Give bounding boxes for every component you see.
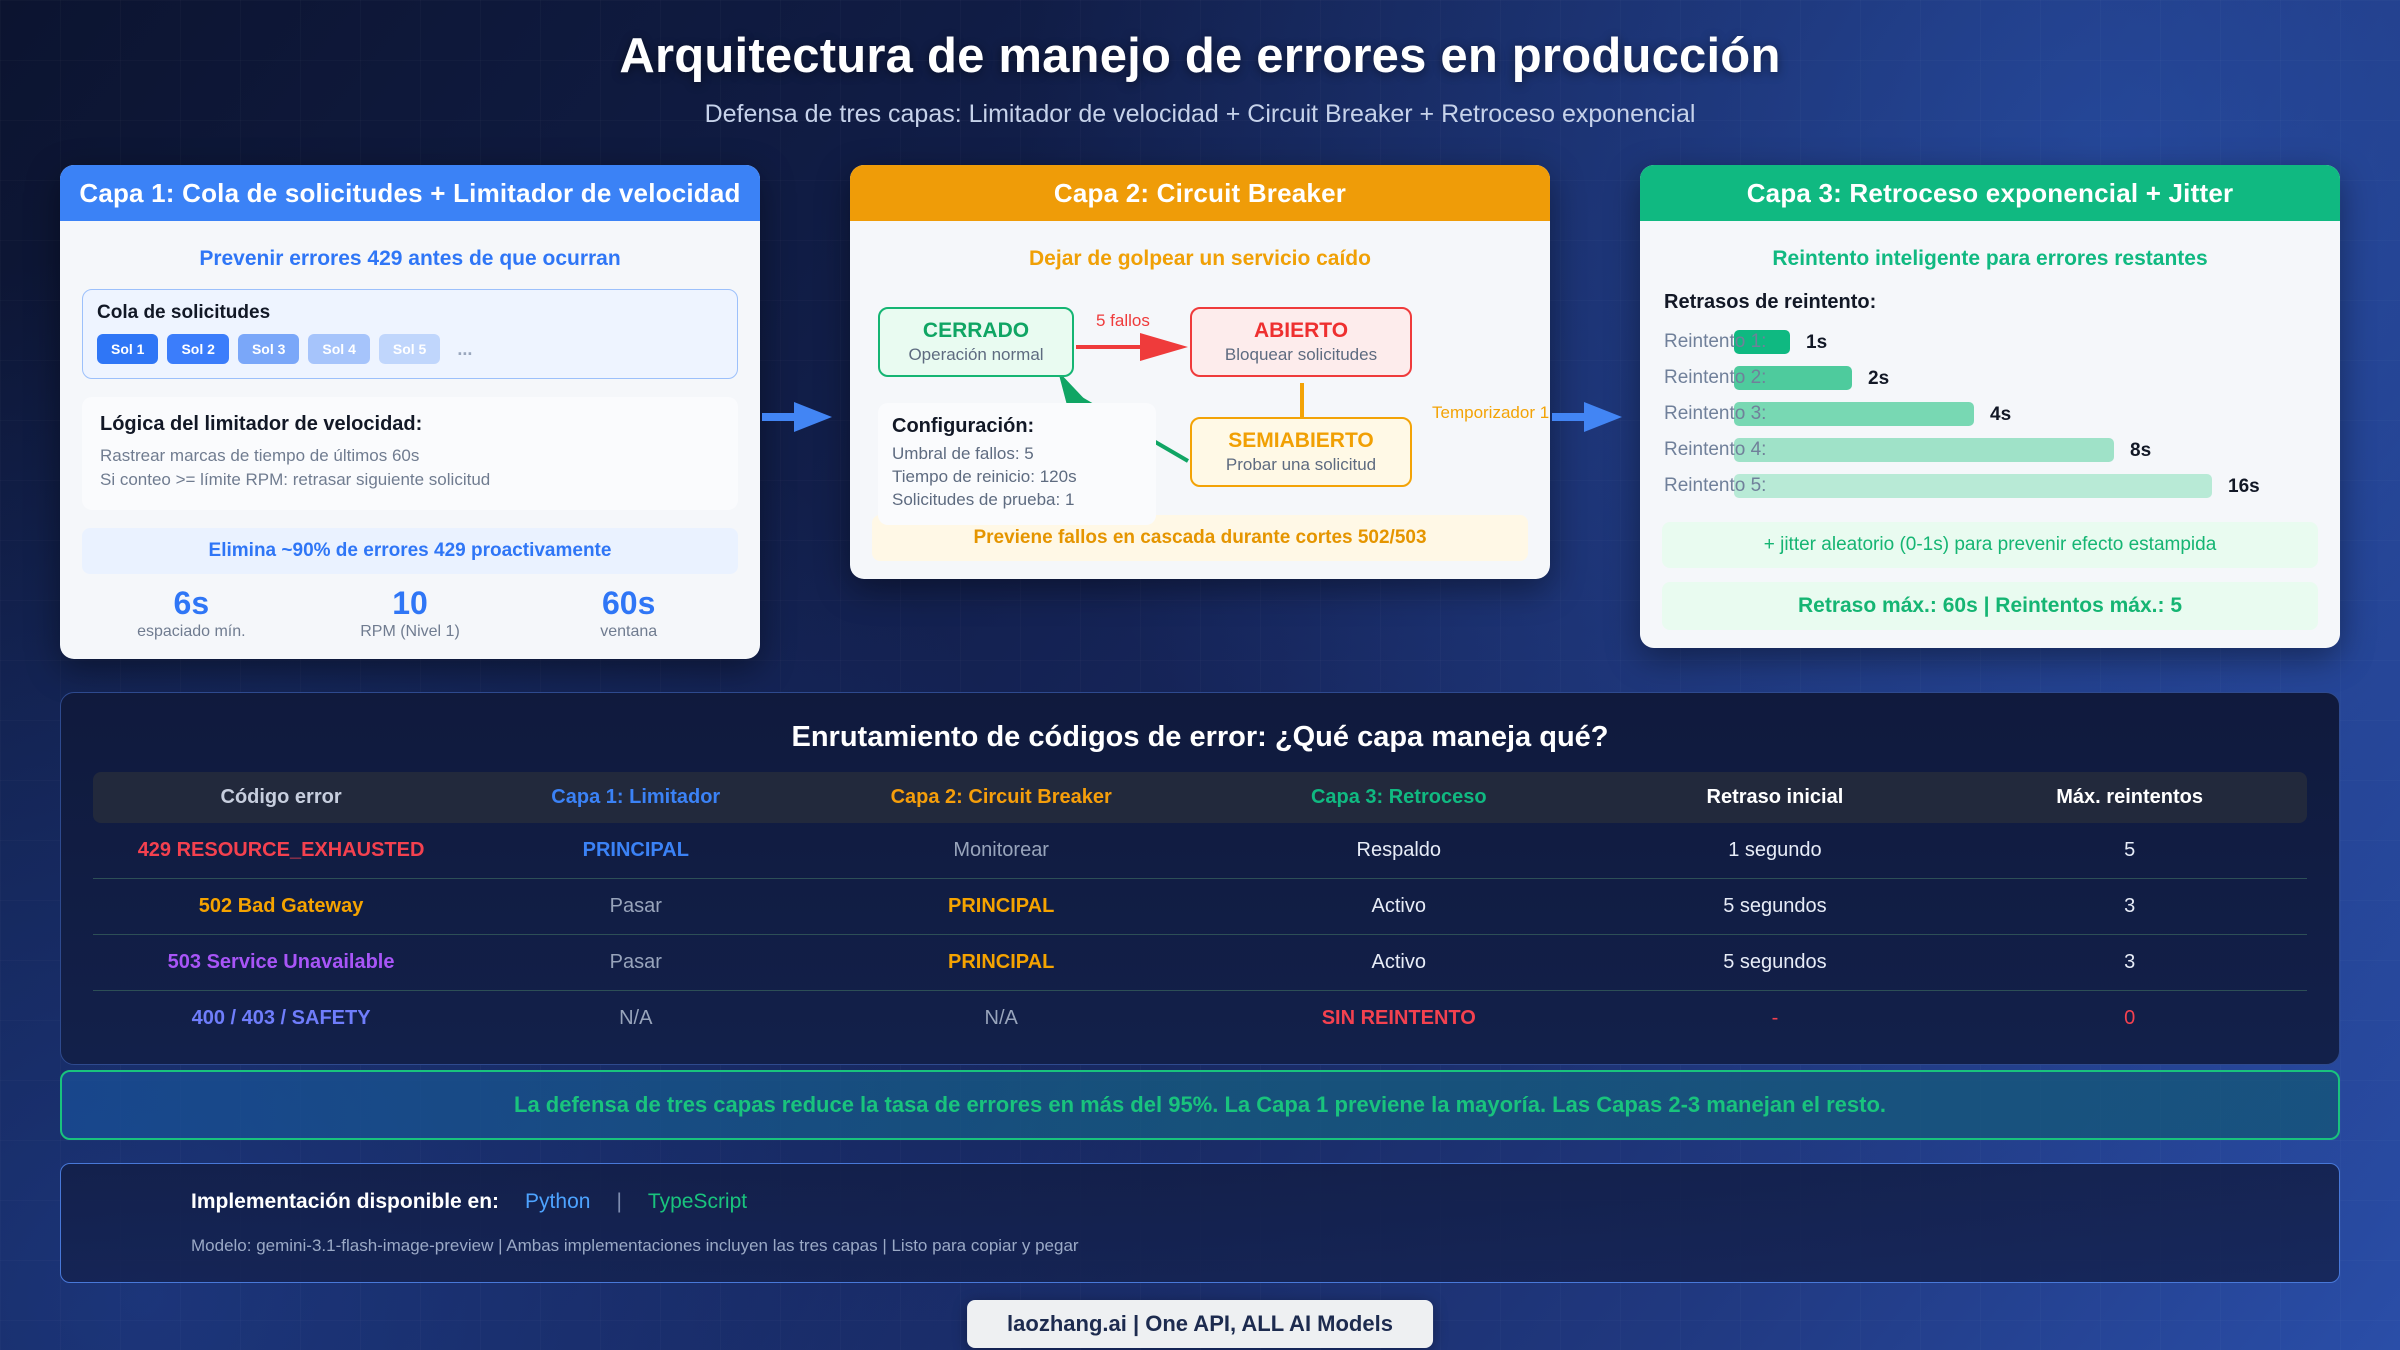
queue-chip: Sol 2 — [167, 334, 228, 364]
retry-bar-track: 16s — [1734, 474, 2318, 498]
col-header-layer-3: Capa 3: Retroceso — [1200, 772, 1598, 823]
stat-min-spacing: 6s espaciado mín. — [82, 586, 301, 641]
cell-layer-3: Respaldo — [1200, 823, 1598, 879]
card-layer-3: Capa 3: Retroceso exponencial + Jitter R… — [1640, 165, 2340, 648]
retry-bar-track: 8s — [1734, 438, 2318, 462]
rate-limiter-logic-title: Lógica del limitador de velocidad: — [100, 413, 720, 436]
implementation-links-row: Implementación disponible en: Python | T… — [191, 1190, 2209, 1214]
flow-arrow-2-to-3 — [1552, 400, 1622, 434]
cell-initial-delay: 1 segundo — [1598, 823, 1953, 879]
request-queue-chips: Sol 1 Sol 2 Sol 3 Sol 4 Sol 5 ... — [97, 334, 723, 364]
table-row: 502 Bad Gateway Pasar PRINCIPAL Activo 5… — [93, 879, 2307, 935]
circuit-breaker-config-box: Configuración: Umbral de fallos: 5 Tiemp… — [878, 403, 1156, 525]
retry-bar-row: Reintento 3: 4s — [1662, 396, 2318, 432]
edge-label-failures: 5 fallos — [1096, 311, 1150, 331]
retry-bar-value: 1s — [1806, 332, 1827, 354]
cell-layer-2: PRINCIPAL — [802, 935, 1200, 991]
col-header-initial-delay: Retraso inicial — [1598, 772, 1953, 823]
page-header: Arquitectura de manejo de errores en pro… — [0, 0, 2400, 129]
cell-layer-3: Activo — [1200, 935, 1598, 991]
retry-bar-value: 2s — [1868, 368, 1889, 390]
table-head: Código error Capa 1: Limitador Capa 2: C… — [93, 772, 2307, 823]
cell-initial-delay: - — [1598, 991, 1953, 1047]
cell-initial-delay: 5 segundos — [1598, 879, 1953, 935]
config-line: Solicitudes de prueba: 1 — [892, 490, 1142, 510]
retry-bar-row: Reintento 4: 8s — [1662, 432, 2318, 468]
card-layer-3-header: Capa 3: Retroceso exponencial + Jitter — [1640, 165, 2340, 221]
retry-delay-bar-chart: Reintento 1: 1s Reintento 2: 2s — [1662, 324, 2318, 504]
retry-bar-row: Reintento 2: 2s — [1662, 360, 2318, 396]
table-body: 429 RESOURCE_EXHAUSTED PRINCIPAL Monitor… — [93, 823, 2307, 1046]
col-header-error-code: Código error — [93, 772, 469, 823]
cell-layer-1: Pasar — [469, 879, 802, 935]
request-queue-box: Cola de solicitudes Sol 1 Sol 2 Sol 3 So… — [82, 289, 738, 379]
cell-layer-1: PRINCIPAL — [469, 823, 802, 879]
queue-chip: Sol 1 — [97, 334, 158, 364]
retry-bar-fill — [1734, 402, 1974, 426]
retry-bar-fill — [1734, 438, 2114, 462]
state-closed-name: CERRADO — [892, 318, 1060, 344]
python-link[interactable]: Python — [525, 1190, 590, 1214]
stat-label: ventana — [519, 623, 738, 641]
retry-bar-value: 4s — [1990, 404, 2011, 426]
queue-overflow-ellipsis: ... — [457, 339, 472, 360]
card-layer-2-body: Dejar de golpear un servicio caído — [850, 221, 1550, 579]
rate-limiter-logic-box: Lógica del limitador de velocidad: Rastr… — [82, 397, 738, 510]
config-line: Tiempo de reinicio: 120s — [892, 467, 1142, 487]
implementation-lead: Implementación disponible en: — [191, 1190, 499, 1214]
cell-max-retries: 0 — [1952, 991, 2307, 1047]
rate-limiter-logic-line: Si conteo >= límite RPM: retrasar siguie… — [100, 470, 720, 490]
cell-layer-1: N/A — [469, 991, 802, 1047]
summary-banner: La defensa de tres capas reduce la tasa … — [60, 1070, 2340, 1140]
col-header-layer-2: Capa 2: Circuit Breaker — [802, 772, 1200, 823]
retry-bar-track: 2s — [1734, 366, 2318, 390]
page-subtitle: Defensa de tres capas: Limitador de velo… — [0, 100, 2400, 129]
infographic-page: Arquitectura de manejo de errores en pro… — [0, 0, 2400, 1350]
cell-max-retries: 3 — [1952, 879, 2307, 935]
stat-value: 6s — [82, 586, 301, 621]
cell-error-code: 400 / 403 / SAFETY — [93, 991, 469, 1047]
queue-chip: Sol 3 — [238, 334, 299, 364]
state-half-open-name: SEMIABIERTO — [1204, 428, 1398, 454]
cell-initial-delay: 5 segundos — [1598, 935, 1953, 991]
queue-chip: Sol 4 — [308, 334, 369, 364]
state-half-open: SEMIABIERTO Probar una solicitud — [1190, 417, 1412, 487]
cell-layer-3: SIN REINTENTO — [1200, 991, 1598, 1047]
table-row: 503 Service Unavailable Pasar PRINCIPAL … — [93, 935, 2307, 991]
col-header-max-retries: Máx. reintentos — [1952, 772, 2307, 823]
config-line: Umbral de fallos: 5 — [892, 444, 1142, 464]
card-layer-3-body: Reintento inteligente para errores resta… — [1640, 221, 2340, 648]
cell-layer-1: Pasar — [469, 935, 802, 991]
card-layer-3-tagline: Reintento inteligente para errores resta… — [1662, 247, 2318, 271]
card-layer-2-header: Capa 2: Circuit Breaker — [850, 165, 1550, 221]
table-header-row: Código error Capa 1: Limitador Capa 2: C… — [93, 772, 2307, 823]
retry-bar-value: 16s — [2228, 476, 2260, 498]
brand-badge: laozhang.ai | One API, ALL AI Models — [967, 1300, 1433, 1348]
stat-window: 60s ventana — [519, 586, 738, 641]
cell-layer-2: PRINCIPAL — [802, 879, 1200, 935]
stat-label: RPM (Nivel 1) — [301, 623, 520, 641]
state-open: ABIERTO Bloquear solicitudes — [1190, 307, 1412, 377]
cell-error-code: 503 Service Unavailable — [93, 935, 469, 991]
error-routing-table-panel: Enrutamiento de códigos de error: ¿Qué c… — [60, 692, 2340, 1065]
link-separator: | — [616, 1190, 621, 1214]
retry-bar-label: Reintento 1: — [1664, 331, 1766, 353]
retry-bar-track: 4s — [1734, 402, 2318, 426]
cell-max-retries: 5 — [1952, 823, 2307, 879]
retry-bar-label: Reintento 4: — [1664, 439, 1766, 461]
error-routing-table: Código error Capa 1: Limitador Capa 2: C… — [93, 772, 2307, 1046]
cell-error-code: 502 Bad Gateway — [93, 879, 469, 935]
card-layer-1-note: Elimina ~90% de errores 429 proactivamen… — [82, 528, 738, 574]
retry-bar-track: 1s — [1734, 330, 2318, 354]
retry-chart-title: Retrasos de reintento: — [1664, 291, 2318, 314]
retry-bar-value: 8s — [2130, 440, 2151, 462]
state-open-desc: Bloquear solicitudes — [1204, 344, 1398, 366]
page-title: Arquitectura de manejo de errores en pro… — [0, 28, 2400, 84]
card-layer-1-body: Prevenir errores 429 antes de que ocurra… — [60, 221, 760, 659]
card-layer-2: Capa 2: Circuit Breaker Dejar de golpear… — [850, 165, 1550, 579]
queue-chip: Sol 5 — [379, 334, 440, 364]
stat-value: 10 — [301, 586, 520, 621]
card-layer-1-header: Capa 1: Cola de solicitudes + Limitador … — [60, 165, 760, 221]
request-queue-title: Cola de solicitudes — [97, 302, 723, 324]
implementation-panel: Implementación disponible en: Python | T… — [60, 1163, 2340, 1283]
card-layer-1: Capa 1: Cola de solicitudes + Limitador … — [60, 165, 760, 659]
cell-max-retries: 3 — [1952, 935, 2307, 991]
table-row: 400 / 403 / SAFETY N/A N/A SIN REINTENTO… — [93, 991, 2307, 1047]
state-closed: CERRADO Operación normal — [878, 307, 1074, 377]
circuit-breaker-state-diagram: CERRADO Operación normal ABIERTO Bloquea… — [872, 285, 1528, 515]
retry-bar-label: Reintento 3: — [1664, 403, 1766, 425]
implementation-meta: Modelo: gemini-3.1-flash-image-preview |… — [191, 1236, 2209, 1256]
state-half-open-desc: Probar una solicitud — [1204, 454, 1398, 476]
card-layer-2-tagline: Dejar de golpear un servicio caído — [872, 247, 1528, 271]
retry-bar-label: Reintento 2: — [1664, 367, 1766, 389]
state-closed-desc: Operación normal — [892, 344, 1060, 366]
flow-arrow-1-to-2 — [762, 400, 832, 434]
card-layer-1-tagline: Prevenir errores 429 antes de que ocurra… — [82, 247, 738, 271]
retry-bar-row: Reintento 1: 1s — [1662, 324, 2318, 360]
typescript-link[interactable]: TypeScript — [648, 1190, 747, 1214]
cell-layer-3: Activo — [1200, 879, 1598, 935]
col-header-layer-1: Capa 1: Limitador — [469, 772, 802, 823]
layer-cards-row: Capa 1: Cola de solicitudes + Limitador … — [60, 165, 2340, 659]
cell-layer-2: Monitorear — [802, 823, 1200, 879]
stat-label: espaciado mín. — [82, 623, 301, 641]
rate-limiter-logic-line: Rastrear marcas de tiempo de últimos 60s — [100, 446, 720, 466]
jitter-note: + jitter aleatorio (0-1s) para prevenir … — [1662, 522, 2318, 568]
stat-value: 60s — [519, 586, 738, 621]
card-layer-3-summary: Retraso máx.: 60s | Reintentos máx.: 5 — [1662, 582, 2318, 630]
config-title: Configuración: — [892, 415, 1142, 438]
retry-bar-row: Reintento 5: 16s — [1662, 468, 2318, 504]
card-layer-1-stats: 6s espaciado mín. 10 RPM (Nivel 1) 60s v… — [82, 586, 738, 641]
retry-bar-fill — [1734, 474, 2212, 498]
stat-rpm: 10 RPM (Nivel 1) — [301, 586, 520, 641]
error-routing-table-title: Enrutamiento de códigos de error: ¿Qué c… — [93, 721, 2307, 754]
cell-error-code: 429 RESOURCE_EXHAUSTED — [93, 823, 469, 879]
state-open-name: ABIERTO — [1204, 318, 1398, 344]
retry-bar-label: Reintento 5: — [1664, 475, 1766, 497]
cell-layer-2: N/A — [802, 991, 1200, 1047]
edge-label-timer: Temporizador 120s — [1432, 403, 1550, 423]
table-row: 429 RESOURCE_EXHAUSTED PRINCIPAL Monitor… — [93, 823, 2307, 879]
